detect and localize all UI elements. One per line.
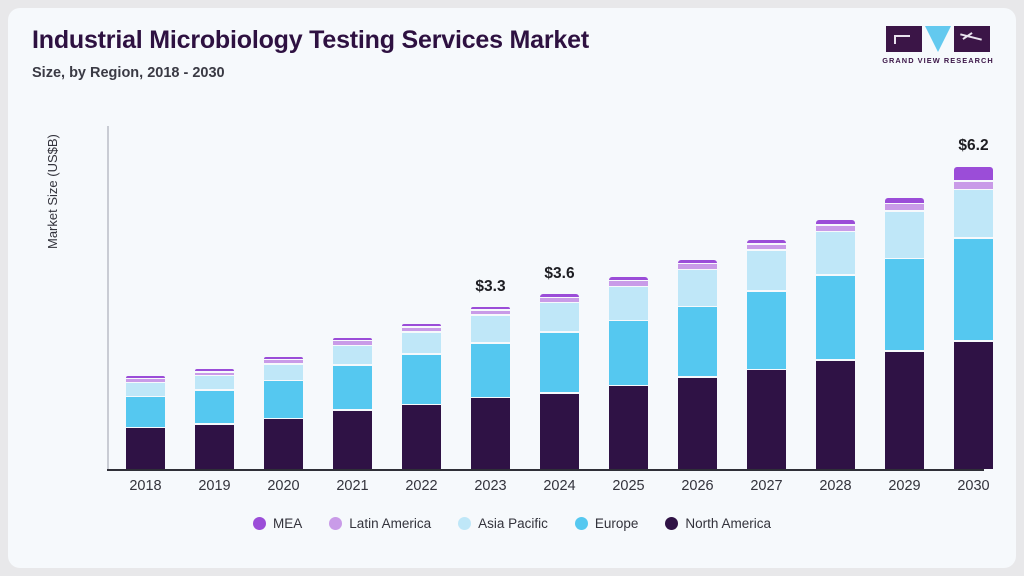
legend-swatch-icon	[253, 517, 266, 530]
bar-segment-latin-america[interactable]	[747, 245, 786, 250]
bar-segment-europe[interactable]	[609, 321, 648, 385]
legend-label: North America	[685, 516, 771, 531]
bar-2020[interactable]	[264, 356, 303, 469]
bar-segment-mea[interactable]	[471, 307, 510, 309]
x-axis-tick-2023: 2023	[456, 478, 525, 494]
bar-segment-north-america[interactable]	[816, 361, 855, 469]
bar-segment-asia-pacific[interactable]	[885, 212, 924, 258]
bar-segment-north-america[interactable]	[402, 405, 441, 469]
bar-segment-north-america[interactable]	[954, 342, 993, 469]
legend-label: Latin America	[349, 516, 431, 531]
bar-segment-asia-pacific[interactable]	[954, 190, 993, 237]
value-label-2030: $6.2	[934, 137, 1014, 155]
logo-text: GRAND VIEW RESEARCH	[882, 56, 994, 65]
bar-segment-north-america[interactable]	[195, 425, 234, 469]
logo-r-block	[954, 26, 990, 52]
bar-segment-north-america[interactable]	[471, 398, 510, 469]
bar-2026[interactable]	[678, 258, 717, 469]
bar-segment-europe[interactable]	[126, 397, 165, 427]
bar-segment-europe[interactable]	[954, 239, 993, 340]
bar-segment-asia-pacific[interactable]	[471, 316, 510, 342]
bar-segment-mea[interactable]	[195, 369, 234, 371]
bar-segment-europe[interactable]	[195, 391, 234, 424]
bar-2025[interactable]	[609, 275, 648, 469]
value-label-2024: $3.6	[520, 265, 600, 283]
chart-legend: MEALatin AmericaAsia PacificEuropeNorth …	[8, 516, 1016, 531]
legend-swatch-icon	[329, 517, 342, 530]
bar-2021[interactable]	[333, 337, 372, 469]
legend-swatch-icon	[575, 517, 588, 530]
bar-2023[interactable]	[471, 306, 510, 469]
bar-segment-mea[interactable]	[540, 294, 579, 296]
bar-segment-latin-america[interactable]	[816, 226, 855, 231]
x-axis-line	[107, 469, 984, 471]
bar-segment-mea[interactable]	[954, 167, 993, 181]
bar-segment-mea[interactable]	[402, 324, 441, 326]
legend-label: MEA	[273, 516, 302, 531]
bar-segment-asia-pacific[interactable]	[126, 383, 165, 395]
bar-segment-mea[interactable]	[609, 277, 648, 280]
bar-segment-europe[interactable]	[471, 344, 510, 397]
bar-2018[interactable]	[126, 375, 165, 469]
bar-segment-north-america[interactable]	[264, 419, 303, 469]
x-axis-tick-2020: 2020	[249, 478, 318, 494]
chart-plot-area: Market Size (US$B) 012345672018201920202…	[107, 126, 984, 469]
bar-segment-europe[interactable]	[885, 259, 924, 350]
legend-item-north-america[interactable]: North America	[665, 516, 771, 531]
x-axis-tick-2024: 2024	[525, 478, 594, 494]
legend-item-asia-pacific[interactable]: Asia Pacific	[458, 516, 548, 531]
bar-2019[interactable]	[195, 369, 234, 469]
bar-segment-latin-america[interactable]	[195, 373, 234, 375]
bar-segment-latin-america[interactable]	[885, 204, 924, 210]
bar-2028[interactable]	[816, 219, 855, 469]
x-axis-tick-2019: 2019	[180, 478, 249, 494]
logo-marks	[882, 26, 994, 54]
bar-2030[interactable]	[954, 165, 993, 469]
bar-2024[interactable]	[540, 293, 579, 469]
bar-segment-asia-pacific[interactable]	[264, 365, 303, 380]
bar-segment-europe[interactable]	[540, 333, 579, 392]
bar-segment-europe[interactable]	[678, 307, 717, 376]
y-axis-label: Market Size (US$B)	[45, 134, 60, 249]
x-axis-tick-2027: 2027	[732, 478, 801, 494]
legend-swatch-icon	[458, 517, 471, 530]
x-axis-tick-2028: 2028	[801, 478, 870, 494]
bar-2027[interactable]	[747, 238, 786, 469]
bar-segment-north-america[interactable]	[333, 411, 372, 469]
bar-segment-latin-america[interactable]	[540, 298, 579, 302]
bar-segment-europe[interactable]	[333, 366, 372, 410]
bar-segment-asia-pacific[interactable]	[747, 251, 786, 290]
bar-segment-latin-america[interactable]	[402, 328, 441, 331]
bar-segment-asia-pacific[interactable]	[540, 303, 579, 331]
bar-segment-europe[interactable]	[264, 381, 303, 417]
bar-segment-north-america[interactable]	[678, 378, 717, 469]
bar-segment-europe[interactable]	[747, 292, 786, 369]
legend-item-mea[interactable]: MEA	[253, 516, 302, 531]
legend-item-europe[interactable]: Europe	[575, 516, 639, 531]
bar-segment-mea[interactable]	[264, 357, 303, 359]
bar-segment-asia-pacific[interactable]	[195, 376, 234, 389]
logo-g-block	[886, 26, 922, 52]
logo-triangle-icon	[925, 26, 951, 52]
brand-logo: GRAND VIEW RESEARCH	[882, 26, 994, 68]
page-subtitle: Size, by Region, 2018 - 2030	[32, 65, 225, 81]
bar-segment-latin-america[interactable]	[126, 379, 165, 381]
bar-segment-mea[interactable]	[816, 220, 855, 224]
x-axis-tick-2026: 2026	[663, 478, 732, 494]
bar-segment-north-america[interactable]	[126, 428, 165, 469]
bar-segment-north-america[interactable]	[747, 370, 786, 469]
legend-item-latin-america[interactable]: Latin America	[329, 516, 431, 531]
bar-segment-latin-america[interactable]	[609, 281, 648, 285]
bar-segment-latin-america[interactable]	[264, 360, 303, 363]
bar-segment-asia-pacific[interactable]	[609, 287, 648, 319]
bar-2022[interactable]	[402, 323, 441, 469]
bar-2029[interactable]	[885, 197, 924, 469]
chart-card: Industrial Microbiology Testing Services…	[8, 8, 1016, 568]
x-axis-tick-2018: 2018	[111, 478, 180, 494]
value-label-2023: $3.3	[451, 278, 531, 296]
x-axis-tick-2022: 2022	[387, 478, 456, 494]
bar-segment-asia-pacific[interactable]	[816, 232, 855, 274]
x-axis-tick-2025: 2025	[594, 478, 663, 494]
legend-label: Asia Pacific	[478, 516, 548, 531]
x-axis-tick-2029: 2029	[870, 478, 939, 494]
bar-segment-mea[interactable]	[333, 338, 372, 340]
bar-segment-mea[interactable]	[885, 198, 924, 203]
bar-segment-asia-pacific[interactable]	[333, 346, 372, 364]
bar-segment-north-america[interactable]	[540, 394, 579, 469]
bar-segment-asia-pacific[interactable]	[678, 270, 717, 306]
bar-segment-latin-america[interactable]	[678, 264, 717, 268]
page-title: Industrial Microbiology Testing Services…	[32, 26, 589, 55]
bar-segment-europe[interactable]	[816, 276, 855, 359]
bar-segment-latin-america[interactable]	[471, 311, 510, 314]
y-axis-line	[107, 126, 109, 469]
bar-segment-latin-america[interactable]	[333, 341, 372, 344]
legend-label: Europe	[595, 516, 639, 531]
bar-segment-mea[interactable]	[678, 260, 717, 263]
bar-segment-latin-america[interactable]	[954, 182, 993, 189]
bar-segment-mea[interactable]	[747, 240, 786, 243]
bar-segment-asia-pacific[interactable]	[402, 333, 441, 354]
bar-segment-mea[interactable]	[126, 376, 165, 378]
bar-segment-north-america[interactable]	[609, 386, 648, 469]
bar-segment-north-america[interactable]	[885, 352, 924, 469]
x-axis-tick-2030: 2030	[939, 478, 1008, 494]
bar-segment-europe[interactable]	[402, 355, 441, 404]
legend-swatch-icon	[665, 517, 678, 530]
x-axis-tick-2021: 2021	[318, 478, 387, 494]
